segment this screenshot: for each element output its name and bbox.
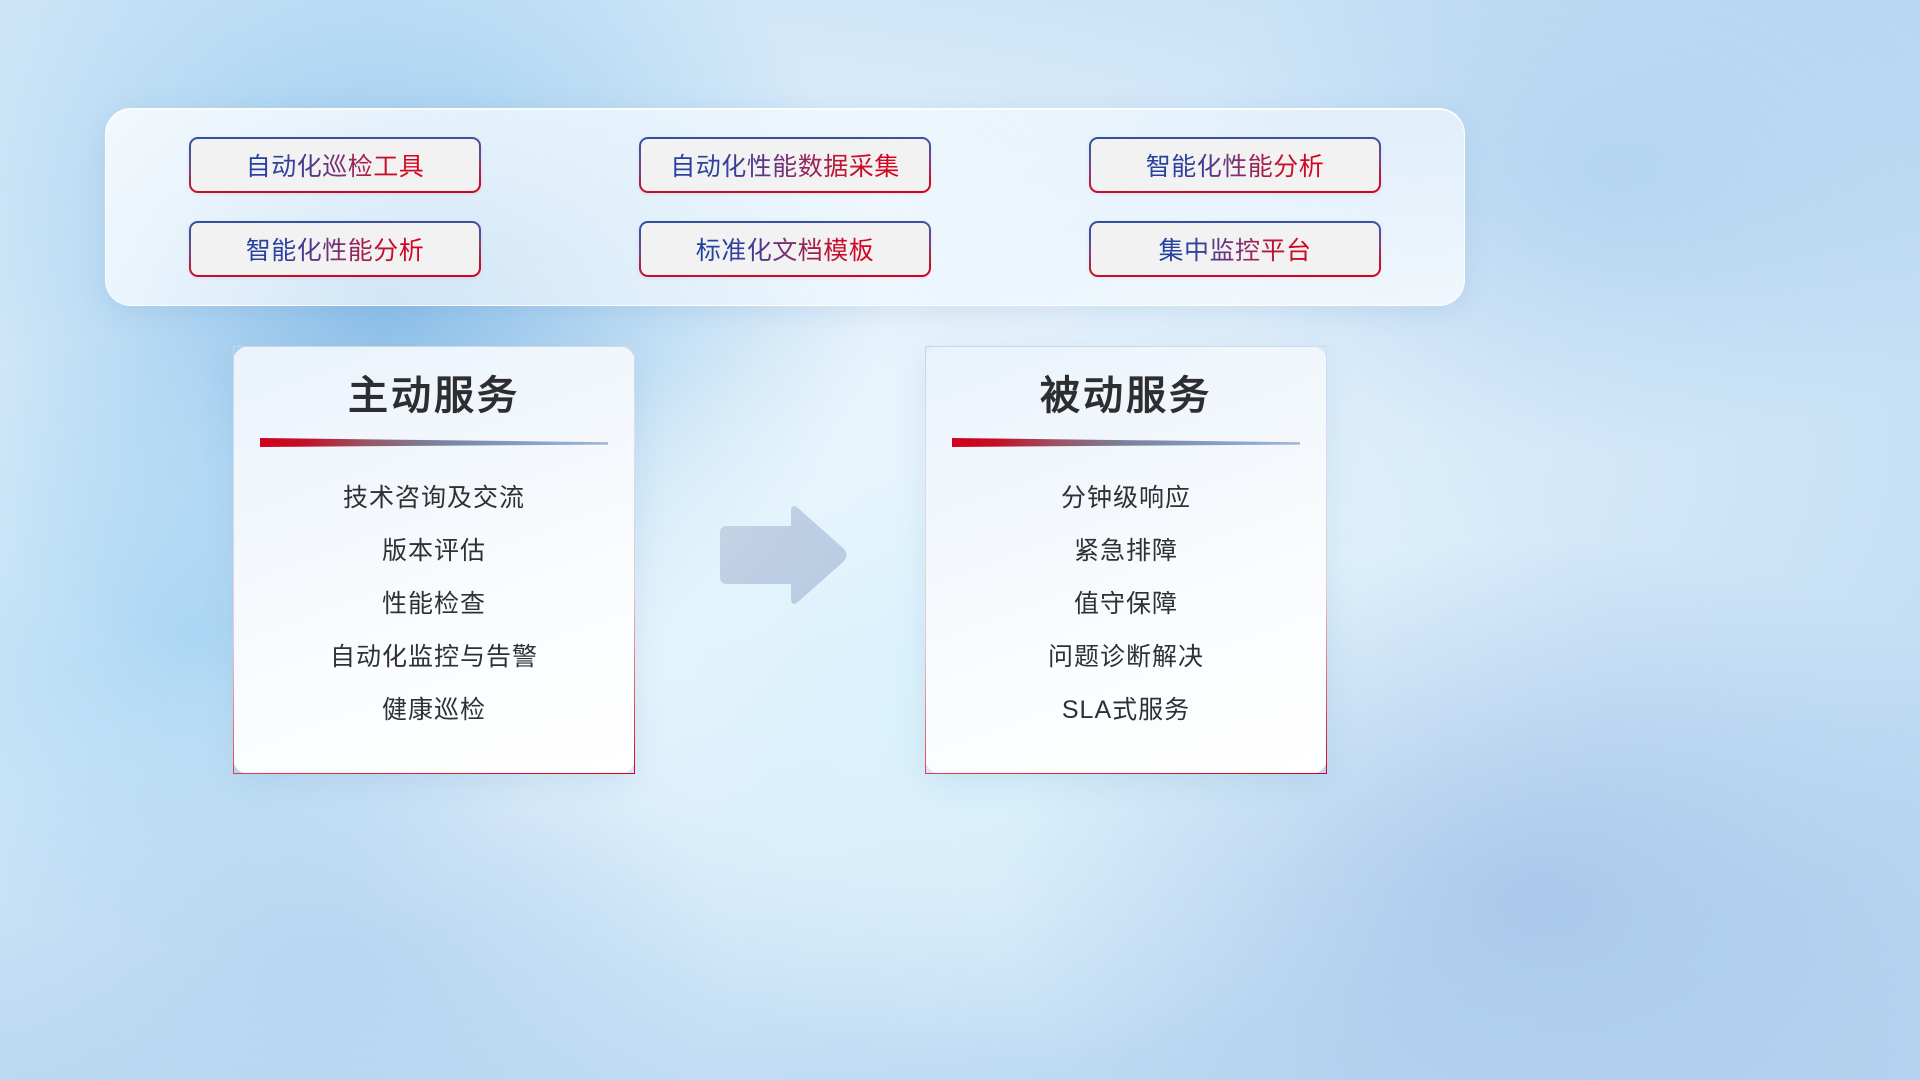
service-card-list: 分钟级响应 紧急排障 值守保障 问题诊断解决 SLA式服务 (926, 472, 1326, 737)
capability-pill-label: 智能化性能分析 (1146, 147, 1325, 183)
list-item: 紧急排障 (1074, 525, 1178, 578)
capability-pill-label: 智能化性能分析 (246, 231, 425, 267)
pill-surface: 自动化巡检工具 (191, 139, 479, 191)
list-item: 问题诊断解决 (1048, 631, 1204, 684)
capability-pill-grid: 自动化巡检工具 自动化性能数据采集 智能化性能分析 智能化性能分析 标准化文档模… (189, 137, 1381, 277)
service-card-list: 技术咨询及交流 版本评估 性能检查 自动化监控与告警 健康巡检 (234, 472, 634, 737)
capability-pill-label: 标准化文档模板 (696, 231, 875, 267)
list-item: 性能检查 (382, 578, 486, 631)
list-item: 技术咨询及交流 (343, 472, 525, 525)
list-item: 健康巡检 (382, 684, 486, 737)
capability-pill-intelligent-performance-analysis-a[interactable]: 智能化性能分析 (1089, 137, 1381, 193)
capability-pill-automated-inspection-tool[interactable]: 自动化巡检工具 (189, 137, 481, 193)
list-item: SLA式服务 (1062, 684, 1190, 737)
service-card-active[interactable]: 主动服务 技术咨询及交流 版本评估 性能检查 自动化监控与告警 健康巡检 (233, 346, 635, 774)
list-item: 版本评估 (382, 525, 486, 578)
capability-pill-standardized-document-template[interactable]: 标准化文档模板 (639, 221, 931, 277)
card-title-divider (952, 436, 1300, 450)
list-item: 值守保障 (1074, 578, 1178, 631)
capability-pill-intelligent-performance-analysis-b[interactable]: 智能化性能分析 (189, 221, 481, 277)
service-card-passive[interactable]: 被动服务 分钟级响应 紧急排障 值守保障 问题诊断解决 SLA式服务 (925, 346, 1327, 774)
capability-pill-centralized-monitoring-platform[interactable]: 集中监控平台 (1089, 221, 1381, 277)
pill-surface: 集中监控平台 (1091, 223, 1379, 275)
arrow-right-icon (714, 503, 850, 609)
capability-panel: 自动化巡检工具 自动化性能数据采集 智能化性能分析 智能化性能分析 标准化文档模… (105, 108, 1465, 306)
capability-pill-label: 集中监控平台 (1158, 231, 1311, 267)
pill-surface: 标准化文档模板 (641, 223, 929, 275)
pill-surface: 智能化性能分析 (191, 223, 479, 275)
service-card-title: 主动服务 (348, 373, 520, 420)
card-title-divider (260, 436, 608, 450)
pill-surface: 自动化性能数据采集 (641, 139, 929, 191)
capability-pill-label: 自动化巡检工具 (246, 147, 425, 183)
list-item: 分钟级响应 (1061, 472, 1191, 525)
capability-pill-label: 自动化性能数据采集 (670, 147, 900, 183)
capability-pill-automated-performance-data-collection[interactable]: 自动化性能数据采集 (639, 137, 931, 193)
service-card-title: 被动服务 (1040, 373, 1212, 420)
pill-surface: 智能化性能分析 (1091, 139, 1379, 191)
list-item: 自动化监控与告警 (330, 631, 538, 684)
